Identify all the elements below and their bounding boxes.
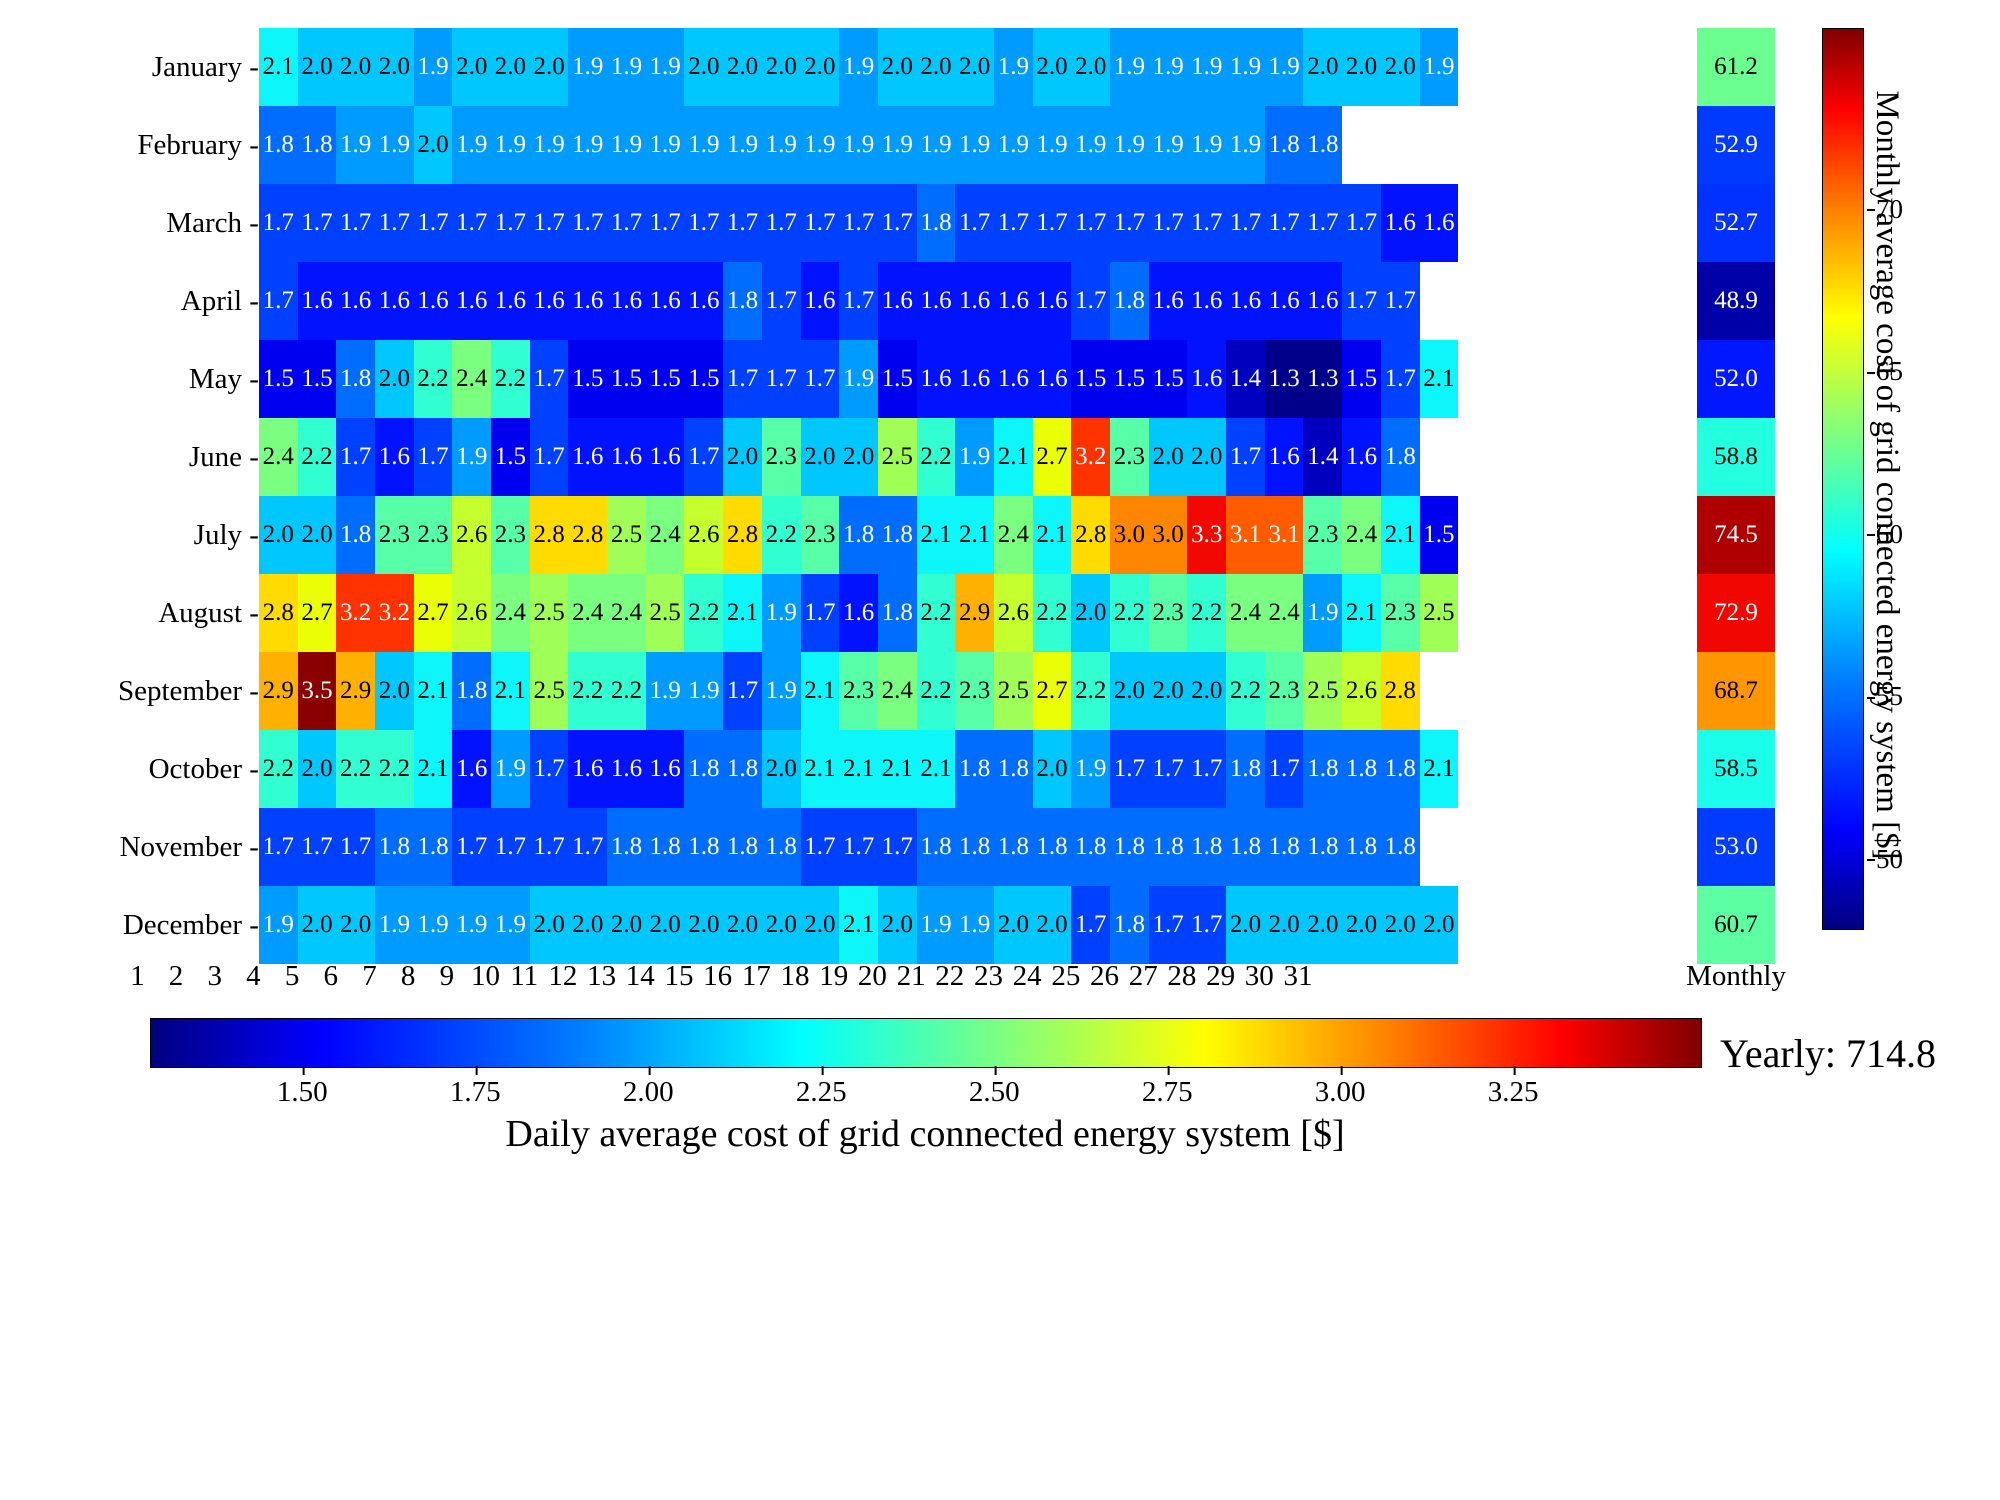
heatmap-cell: 2.2 bbox=[568, 652, 607, 730]
heatmap-cell: 1.9 bbox=[1187, 28, 1226, 106]
heatmap-cell: 2.1 bbox=[414, 730, 453, 808]
heatmap-cell: 1.4 bbox=[1303, 418, 1342, 496]
heatmap-cell: 1.6 bbox=[1187, 262, 1226, 340]
heatmap-cell: 2.0 bbox=[607, 886, 646, 964]
heatmap-cell: 3.5 bbox=[298, 652, 337, 730]
heatmap-cell: 1.9 bbox=[723, 106, 762, 184]
heatmap-cell: 1.8 bbox=[684, 808, 723, 886]
heatmap-cell: 2.1 bbox=[1420, 730, 1459, 808]
heatmap-cell: 1.6 bbox=[1187, 340, 1226, 418]
monthly-cell: 61.2 bbox=[1697, 28, 1775, 106]
heatmap-row: July -2.02.01.82.32.32.62.32.82.82.52.42… bbox=[118, 496, 1458, 574]
heatmap-row: August -2.82.73.23.22.72.62.42.52.42.42.… bbox=[118, 574, 1458, 652]
heatmap-row: March -1.71.71.71.71.71.71.71.71.71.71.7… bbox=[118, 184, 1458, 262]
heatmap-cell: 1.7 bbox=[1187, 886, 1226, 964]
heatmap-cell: 1.8 bbox=[1265, 808, 1304, 886]
heatmap-cell: 1.8 bbox=[1226, 730, 1265, 808]
heatmap-cell: 1.9 bbox=[491, 886, 530, 964]
x-tick-label: 16 bbox=[698, 960, 737, 993]
heatmap-cell: 2.3 bbox=[1265, 652, 1304, 730]
heatmap-cell: 1.7 bbox=[1381, 340, 1420, 418]
heatmap-cell: 1.8 bbox=[994, 730, 1033, 808]
heatmap-cell: 1.7 bbox=[1226, 418, 1265, 496]
heatmap-cell: 1.7 bbox=[452, 808, 491, 886]
horizontal-colorbar-title: Daily average cost of grid connected ene… bbox=[150, 1112, 1700, 1156]
heatmap-cell: 1.9 bbox=[646, 106, 685, 184]
heatmap-cell: 1.6 bbox=[491, 262, 530, 340]
heatmap-cell: 1.6 bbox=[607, 730, 646, 808]
heatmap-cell: 1.7 bbox=[839, 808, 878, 886]
x-tick-label: 31 bbox=[1279, 960, 1318, 993]
heatmap-cell: 1.6 bbox=[646, 418, 685, 496]
heatmap-cell: 2.0 bbox=[955, 28, 994, 106]
heatmap-row: January -2.12.02.02.01.92.02.02.01.91.91… bbox=[118, 28, 1458, 106]
heatmap-cell: 2.0 bbox=[298, 496, 337, 574]
heatmap-cell: 1.6 bbox=[1303, 262, 1342, 340]
heatmap-cell: 1.7 bbox=[1071, 262, 1110, 340]
heatmap-cell: 1.9 bbox=[646, 28, 685, 106]
heatmap-cell: 1.8 bbox=[839, 496, 878, 574]
monthly-column: 61.252.952.748.952.058.874.572.968.758.5… bbox=[1697, 28, 1775, 964]
heatmap-cell: 2.0 bbox=[723, 418, 762, 496]
heatmap-cell: 2.0 bbox=[1381, 28, 1420, 106]
heatmap-cell: 2.0 bbox=[568, 886, 607, 964]
heatmap-cell: 2.1 bbox=[801, 730, 840, 808]
horizontal-colorbar-tick: 2.50 bbox=[969, 1076, 1020, 1109]
heatmap-cell: 1.7 bbox=[1381, 262, 1420, 340]
heatmap-cell: 1.7 bbox=[684, 184, 723, 262]
heatmap-cell: 2.2 bbox=[336, 730, 375, 808]
x-tick-label: 18 bbox=[776, 960, 815, 993]
heatmap-cell: 1.7 bbox=[336, 418, 375, 496]
heatmap-cell: 1.7 bbox=[607, 184, 646, 262]
heatmap-cell: 1.6 bbox=[1033, 262, 1072, 340]
heatmap-cell: 1.7 bbox=[568, 808, 607, 886]
heatmap-cell: 2.3 bbox=[491, 496, 530, 574]
heatmap-cell: 1.9 bbox=[1303, 574, 1342, 652]
heatmap-cell: 1.6 bbox=[414, 262, 453, 340]
heatmap-cell: 2.3 bbox=[1110, 418, 1149, 496]
heatmap-cell: 2.0 bbox=[1033, 886, 1072, 964]
heatmap-cell: 2.0 bbox=[1342, 28, 1381, 106]
heatmap-cell: 1.6 bbox=[1226, 262, 1265, 340]
heatmap-cell: 3.1 bbox=[1265, 496, 1304, 574]
heatmap-cell: 1.7 bbox=[801, 184, 840, 262]
x-tick-label: 15 bbox=[660, 960, 699, 993]
heatmap-cell: 1.9 bbox=[375, 106, 414, 184]
heatmap-cell: 1.6 bbox=[375, 262, 414, 340]
x-tick-label: 13 bbox=[582, 960, 621, 993]
heatmap-cell: 1.9 bbox=[452, 418, 491, 496]
heatmap-cell: 2.2 bbox=[491, 340, 530, 418]
horizontal-colorbar-tick: 2.25 bbox=[796, 1076, 847, 1109]
heatmap-cell: 2.3 bbox=[1149, 574, 1188, 652]
heatmap-cell: 1.7 bbox=[1265, 184, 1304, 262]
heatmap-cell: 1.6 bbox=[1420, 184, 1459, 262]
heatmap-cell: 2.0 bbox=[375, 652, 414, 730]
heatmap-cell: 1.6 bbox=[607, 262, 646, 340]
x-tick-label: 10 bbox=[466, 960, 505, 993]
heatmap-cell: 1.5 bbox=[878, 340, 917, 418]
heatmap-cell: 2.5 bbox=[994, 652, 1033, 730]
heatmap-cell: 1.9 bbox=[452, 106, 491, 184]
heatmap-cell: 2.0 bbox=[684, 886, 723, 964]
monthly-cell: 52.0 bbox=[1697, 340, 1775, 418]
monthly-cell: 58.5 bbox=[1697, 730, 1775, 808]
heatmap-cell: 1.8 bbox=[1381, 418, 1420, 496]
heatmap-cell: 1.7 bbox=[1226, 184, 1265, 262]
heatmap-cell: 1.9 bbox=[1110, 28, 1149, 106]
heatmap-cell: 1.7 bbox=[375, 184, 414, 262]
heatmap-cell: 1.9 bbox=[1226, 28, 1265, 106]
heatmap-cell: 2.2 bbox=[259, 730, 298, 808]
x-axis-tick-labels: 1234567891011121314151617181920212223242… bbox=[118, 960, 1318, 993]
y-axis-label-march: March - bbox=[118, 184, 259, 262]
heatmap-cell: 1.8 bbox=[1342, 730, 1381, 808]
heatmap-cell: 1.9 bbox=[955, 886, 994, 964]
x-tick-label: 3 bbox=[195, 960, 234, 993]
heatmap-cell: 2.7 bbox=[298, 574, 337, 652]
heatmap-cell: 2.6 bbox=[452, 496, 491, 574]
heatmap-cell: 1.9 bbox=[1149, 106, 1188, 184]
heatmap-cell: 1.6 bbox=[1033, 340, 1072, 418]
heatmap-cell: 2.3 bbox=[801, 496, 840, 574]
heatmap-cell: 1.6 bbox=[452, 730, 491, 808]
x-tick-label: 28 bbox=[1163, 960, 1202, 993]
heatmap-cell: 1.8 bbox=[1110, 808, 1149, 886]
heatmap-cell: 1.7 bbox=[530, 730, 569, 808]
heatmap-cell: 1.7 bbox=[684, 418, 723, 496]
heatmap-cell: 2.0 bbox=[917, 28, 956, 106]
x-tick-label: 22 bbox=[930, 960, 969, 993]
heatmap-cell: 1.6 bbox=[955, 262, 994, 340]
heatmap-cell: 2.5 bbox=[1420, 574, 1459, 652]
heatmap-cell: 2.1 bbox=[1342, 574, 1381, 652]
heatmap-cell: 1.9 bbox=[762, 574, 801, 652]
heatmap-cell: 1.7 bbox=[801, 808, 840, 886]
heatmap-cell: 2.0 bbox=[1420, 886, 1459, 964]
heatmap-cell: 1.8 bbox=[414, 808, 453, 886]
heatmap-cell: 2.0 bbox=[1303, 886, 1342, 964]
heatmap-cell: 2.1 bbox=[259, 28, 298, 106]
heatmap-cell: 2.0 bbox=[414, 106, 453, 184]
heatmap-cell: 2.9 bbox=[955, 574, 994, 652]
heatmap-cell: 1.9 bbox=[955, 106, 994, 184]
heatmap-cell: 2.2 bbox=[414, 340, 453, 418]
heatmap-row: September -2.93.52.92.02.11.82.12.52.22.… bbox=[118, 652, 1458, 730]
heatmap-cell: 1.7 bbox=[878, 808, 917, 886]
heatmap-cell: 1.7 bbox=[1303, 184, 1342, 262]
heatmap-cell: 1.9 bbox=[259, 886, 298, 964]
heatmap-cell: 2.2 bbox=[298, 418, 337, 496]
heatmap-cell: 2.5 bbox=[607, 496, 646, 574]
heatmap-cell: 2.4 bbox=[452, 340, 491, 418]
heatmap-cell: 1.7 bbox=[336, 808, 375, 886]
heatmap-cell: 1.6 bbox=[1265, 418, 1304, 496]
heatmap-cell: 1.7 bbox=[723, 652, 762, 730]
heatmap-cell: 1.9 bbox=[801, 106, 840, 184]
heatmap-cell: 2.0 bbox=[801, 886, 840, 964]
heatmap-cell: 1.7 bbox=[1071, 184, 1110, 262]
heatmap-cell: 2.0 bbox=[801, 28, 840, 106]
heatmap-cell: 1.6 bbox=[917, 340, 956, 418]
heatmap-cell: 3.1 bbox=[1226, 496, 1265, 574]
heatmap-cell: 1.4 bbox=[1226, 340, 1265, 418]
heatmap-cell: 1.9 bbox=[646, 652, 685, 730]
heatmap-cell: 1.9 bbox=[491, 730, 530, 808]
heatmap-cell: 1.6 bbox=[452, 262, 491, 340]
heatmap-cell: 2.0 bbox=[1226, 886, 1265, 964]
heatmap-cell: 1.8 bbox=[336, 496, 375, 574]
heatmap-cell: 2.0 bbox=[1342, 886, 1381, 964]
heatmap-cell: 1.8 bbox=[1303, 106, 1342, 184]
heatmap-cell: 1.9 bbox=[839, 106, 878, 184]
heatmap-cell: 1.9 bbox=[607, 28, 646, 106]
heatmap-cell: 2.2 bbox=[1071, 652, 1110, 730]
heatmap-cell: 1.7 bbox=[336, 184, 375, 262]
heatmap-cell: 1.9 bbox=[955, 418, 994, 496]
heatmap-cell: 3.3 bbox=[1187, 496, 1226, 574]
heatmap-row: October -2.22.02.22.22.11.61.91.71.61.61… bbox=[118, 730, 1458, 808]
heatmap-cell: 1.9 bbox=[1187, 106, 1226, 184]
heatmap-cell: 1.3 bbox=[1265, 340, 1304, 418]
heatmap-cell: 1.5 bbox=[1110, 340, 1149, 418]
heatmap-cell: 1.9 bbox=[568, 28, 607, 106]
x-tick-label: 21 bbox=[892, 960, 931, 993]
heatmap-cell: 1.8 bbox=[1110, 262, 1149, 340]
heatmap-cell: 2.4 bbox=[1265, 574, 1304, 652]
heatmap-cell: 1.7 bbox=[955, 184, 994, 262]
heatmap-cell: 2.0 bbox=[1149, 418, 1188, 496]
heatmap-cell: 1.9 bbox=[839, 28, 878, 106]
monthly-cell: 53.0 bbox=[1697, 808, 1775, 886]
heatmap-cell: 2.9 bbox=[336, 652, 375, 730]
heatmap-cell: 1.9 bbox=[1226, 106, 1265, 184]
heatmap-cell: 1.9 bbox=[839, 340, 878, 418]
heatmap-cell: 2.3 bbox=[1381, 574, 1420, 652]
heatmap-cell: 1.7 bbox=[530, 340, 569, 418]
heatmap-cell: 1.7 bbox=[839, 262, 878, 340]
heatmap-cell: 2.9 bbox=[259, 652, 298, 730]
heatmap-cell: 1.8 bbox=[955, 808, 994, 886]
heatmap-cell: 3.0 bbox=[1110, 496, 1149, 574]
heatmap-cell-empty bbox=[1420, 808, 1459, 886]
heatmap-cell: 2.1 bbox=[491, 652, 530, 730]
heatmap-cell: 2.3 bbox=[414, 496, 453, 574]
monthly-cell: 52.9 bbox=[1697, 106, 1775, 184]
x-tick-label: 26 bbox=[1085, 960, 1124, 993]
y-axis-label-september: September - bbox=[118, 652, 259, 730]
heatmap-cell: 1.7 bbox=[530, 808, 569, 886]
heatmap-cell: 1.6 bbox=[1149, 262, 1188, 340]
heatmap-cell: 2.0 bbox=[1187, 418, 1226, 496]
heatmap-cell: 2.0 bbox=[723, 28, 762, 106]
heatmap-cell: 1.9 bbox=[684, 106, 723, 184]
heatmap-cell: 1.7 bbox=[298, 808, 337, 886]
heatmap-cell: 2.2 bbox=[607, 652, 646, 730]
heatmap-cell: 2.1 bbox=[1420, 340, 1459, 418]
heatmap-cell: 2.7 bbox=[414, 574, 453, 652]
heatmap-cell: 3.2 bbox=[375, 574, 414, 652]
heatmap-cell: 1.7 bbox=[1033, 184, 1072, 262]
heatmap-cell: 1.8 bbox=[917, 808, 956, 886]
heatmap-cell: 1.7 bbox=[491, 184, 530, 262]
heatmap-cell: 2.0 bbox=[1033, 730, 1072, 808]
heatmap-cell: 1.8 bbox=[375, 808, 414, 886]
heatmap-cell: 1.8 bbox=[1187, 808, 1226, 886]
heatmap-cell: 1.9 bbox=[375, 886, 414, 964]
heatmap-cell: 2.0 bbox=[375, 340, 414, 418]
heatmap-cell: 2.4 bbox=[646, 496, 685, 574]
heatmap-row: May -1.51.51.82.02.22.42.21.71.51.51.51.… bbox=[118, 340, 1458, 418]
heatmap-cell: 2.0 bbox=[1265, 886, 1304, 964]
heatmap-cell: 1.8 bbox=[646, 808, 685, 886]
heatmap-cell: 1.9 bbox=[336, 106, 375, 184]
heatmap-cell: 2.1 bbox=[414, 652, 453, 730]
heatmap-cell: 2.0 bbox=[801, 418, 840, 496]
heatmap-cell: 1.7 bbox=[1187, 730, 1226, 808]
heatmap-table: January -2.12.02.02.01.92.02.02.01.91.91… bbox=[118, 28, 1458, 964]
heatmap-cell: 1.7 bbox=[1110, 730, 1149, 808]
monthly-cell: 48.9 bbox=[1697, 262, 1775, 340]
heatmap-cell: 2.3 bbox=[955, 652, 994, 730]
heatmap-cell: 1.7 bbox=[1342, 262, 1381, 340]
heatmap-cell: 2.8 bbox=[568, 496, 607, 574]
heatmap-cell: 1.7 bbox=[530, 184, 569, 262]
monthly-cell: 72.9 bbox=[1697, 574, 1775, 652]
y-axis-label-october: October - bbox=[118, 730, 259, 808]
heatmap-cell: 1.8 bbox=[917, 184, 956, 262]
heatmap-cell: 1.8 bbox=[955, 730, 994, 808]
heatmap-grid-container: January -2.12.02.02.01.92.02.02.01.91.91… bbox=[118, 28, 1458, 964]
heatmap-cell: 1.7 bbox=[1071, 886, 1110, 964]
monthly-cell: 52.7 bbox=[1697, 184, 1775, 262]
heatmap-cell: 1.9 bbox=[452, 886, 491, 964]
heatmap-cell: 1.7 bbox=[452, 184, 491, 262]
heatmap-cell-empty bbox=[1420, 106, 1459, 184]
heatmap-cell: 2.8 bbox=[259, 574, 298, 652]
heatmap-cell: 1.7 bbox=[259, 262, 298, 340]
heatmap-cell: 3.0 bbox=[1149, 496, 1188, 574]
x-tick-label: 5 bbox=[273, 960, 312, 993]
heatmap-cell: 2.5 bbox=[646, 574, 685, 652]
horizontal-colorbar bbox=[150, 1018, 1702, 1068]
heatmap-cell: 2.1 bbox=[994, 418, 1033, 496]
heatmap-row: November -1.71.71.71.81.81.71.71.71.71.8… bbox=[118, 808, 1458, 886]
heatmap-cell: 1.7 bbox=[801, 574, 840, 652]
heatmap-cell: 2.0 bbox=[298, 886, 337, 964]
heatmap-cell: 1.8 bbox=[259, 106, 298, 184]
heatmap-cell-empty bbox=[1342, 106, 1381, 184]
x-tick-label: 24 bbox=[1008, 960, 1047, 993]
heatmap-cell: 1.9 bbox=[994, 28, 1033, 106]
horizontal-colorbar-ticks: 1.501.752.002.252.502.753.003.25 bbox=[150, 1066, 1700, 1110]
heatmap-cell: 2.0 bbox=[723, 886, 762, 964]
heatmap-cell: 1.8 bbox=[878, 574, 917, 652]
heatmap-cell: 1.7 bbox=[762, 262, 801, 340]
x-tick-label: 11 bbox=[505, 960, 544, 993]
heatmap-cell: 1.8 bbox=[1265, 106, 1304, 184]
heatmap-cell: 1.7 bbox=[994, 184, 1033, 262]
heatmap-cell: 1.7 bbox=[1265, 730, 1304, 808]
heatmap-cell: 1.5 bbox=[1071, 340, 1110, 418]
heatmap-cell: 1.8 bbox=[1342, 808, 1381, 886]
heatmap-cell: 1.6 bbox=[1381, 184, 1420, 262]
heatmap-cell: 1.9 bbox=[414, 28, 453, 106]
heatmap-cell: 1.8 bbox=[1110, 886, 1149, 964]
heatmap-cell: 2.0 bbox=[452, 28, 491, 106]
heatmap-cell: 2.2 bbox=[917, 652, 956, 730]
heatmap-cell: 2.0 bbox=[336, 28, 375, 106]
heatmap-cell: 1.7 bbox=[530, 418, 569, 496]
x-tick-label: 2 bbox=[157, 960, 196, 993]
heatmap-cell: 1.9 bbox=[1071, 106, 1110, 184]
heatmap-cell: 1.6 bbox=[994, 262, 1033, 340]
heatmap-cell: 1.6 bbox=[839, 574, 878, 652]
heatmap-cell: 1.8 bbox=[1303, 730, 1342, 808]
heatmap-cell: 1.7 bbox=[414, 418, 453, 496]
heatmap-cell: 2.0 bbox=[878, 28, 917, 106]
heatmap-cell: 2.4 bbox=[994, 496, 1033, 574]
monthly-cell: 68.7 bbox=[1697, 652, 1775, 730]
heatmap-cell: 2.0 bbox=[298, 730, 337, 808]
heatmap-cell: 2.1 bbox=[1033, 496, 1072, 574]
heatmap-cell: 1.8 bbox=[994, 808, 1033, 886]
heatmap-cell: 1.6 bbox=[607, 418, 646, 496]
heatmap-cell: 1.9 bbox=[684, 652, 723, 730]
horizontal-colorbar-tick: 3.25 bbox=[1488, 1076, 1539, 1109]
heatmap-cell: 2.4 bbox=[568, 574, 607, 652]
heatmap-cell: 1.9 bbox=[878, 106, 917, 184]
heatmap-cell: 1.7 bbox=[762, 184, 801, 262]
heatmap-cell: 2.8 bbox=[530, 496, 569, 574]
heatmap-cell: 2.4 bbox=[491, 574, 530, 652]
heatmap-cell: 1.9 bbox=[568, 106, 607, 184]
vertical-colorbar bbox=[1822, 28, 1864, 930]
heatmap-cell-empty bbox=[1420, 262, 1459, 340]
horizontal-colorbar-tick: 2.75 bbox=[1142, 1076, 1193, 1109]
heatmap-cell: 2.4 bbox=[1342, 496, 1381, 574]
y-axis-label-may: May - bbox=[118, 340, 259, 418]
heatmap-cell: 1.7 bbox=[1187, 184, 1226, 262]
heatmap-cell: 2.0 bbox=[259, 496, 298, 574]
heatmap-cell: 2.4 bbox=[259, 418, 298, 496]
heatmap-cell: 2.1 bbox=[723, 574, 762, 652]
heatmap-cell: 1.8 bbox=[1033, 808, 1072, 886]
heatmap-cell: 2.2 bbox=[917, 418, 956, 496]
heatmap-cell: 1.6 bbox=[646, 730, 685, 808]
x-tick-label: 30 bbox=[1240, 960, 1279, 993]
x-tick-label: 9 bbox=[428, 960, 467, 993]
heatmap-cell: 2.2 bbox=[917, 574, 956, 652]
heatmap-cell: 2.0 bbox=[1381, 886, 1420, 964]
horizontal-colorbar-tick: 1.75 bbox=[450, 1076, 501, 1109]
heatmap-cell-empty bbox=[1420, 418, 1459, 496]
heatmap-cell: 1.9 bbox=[1265, 28, 1304, 106]
heatmap-cell: 2.4 bbox=[1226, 574, 1265, 652]
heatmap-cell: 1.9 bbox=[1149, 28, 1188, 106]
heatmap-cell: 2.0 bbox=[762, 730, 801, 808]
y-axis-label-august: August - bbox=[118, 574, 259, 652]
x-tick-label: 19 bbox=[814, 960, 853, 993]
heatmap-cell: 1.8 bbox=[684, 730, 723, 808]
heatmap-cell: 2.2 bbox=[375, 730, 414, 808]
heatmap-cell: 1.9 bbox=[530, 106, 569, 184]
heatmap-cell: 1.8 bbox=[607, 808, 646, 886]
heatmap-cell: 2.0 bbox=[762, 886, 801, 964]
heatmap-cell: 2.0 bbox=[762, 28, 801, 106]
heatmap-cell: 1.8 bbox=[1381, 808, 1420, 886]
